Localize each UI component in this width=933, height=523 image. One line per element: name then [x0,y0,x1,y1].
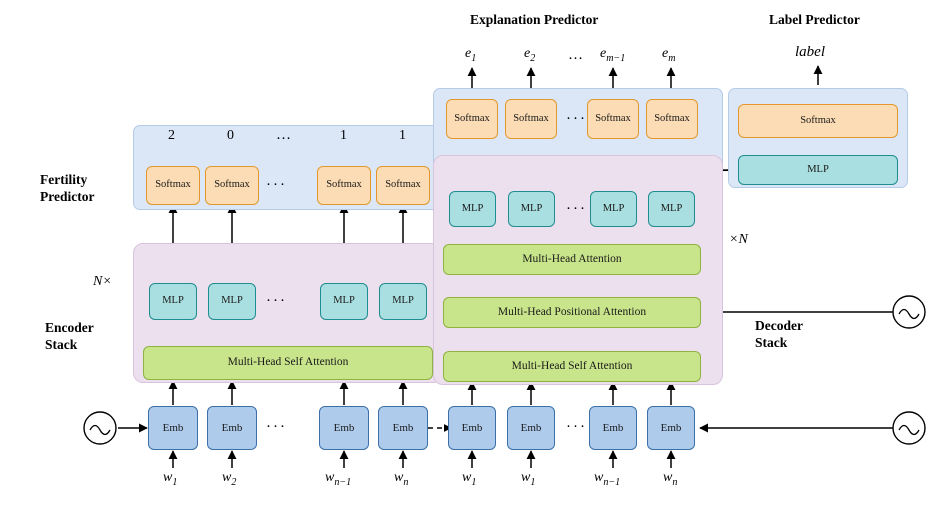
encoder-repeat-label: N× [93,274,112,290]
encoder-input-3: wn [394,470,408,488]
decoder-stack-title-line1: Decoder [755,318,803,333]
encoder-stack-title-line1: Encoder [45,320,94,335]
decoder-input-2: wn−1 [594,470,620,488]
encoder-input-0: w1 [163,470,177,488]
fertility-output-3: 1 [399,128,406,144]
explanation-softmax-3[interactable]: Softmax [646,99,698,139]
explanation-softmax-1[interactable]: Softmax [505,99,557,139]
fertility-predictor-title-line2: Predictor [40,189,94,204]
explanation-predictor-title: Explanation Predictor [470,12,598,28]
decoder-input-3: wn [663,470,677,488]
arrows-decoder-emb-to-selfattn [472,382,671,405]
decoder-emb-0[interactable]: Emb [448,406,496,450]
label-predictor-softmax[interactable]: Softmax [738,104,898,138]
explanation-output-3: em [662,46,676,64]
explanation-output-ellipsis: … [568,47,585,64]
encoder-emb-1[interactable]: Emb [207,406,257,450]
encoder-mlp-0[interactable]: MLP [149,283,197,320]
arrows-encoder-word-to-emb [173,451,403,468]
encoder-stack-title: Encoder Stack [45,320,94,354]
encoder-emb-ellipsis: ··· [266,419,287,436]
fertility-softmax-0[interactable]: Softmax [146,166,200,205]
arrows-decoder-word-to-emb [472,451,671,468]
encoder-mlp-ellipsis: ··· [266,293,287,310]
decoder-input-0: w1 [462,470,476,488]
encoder-emb-3[interactable]: Emb [378,406,428,450]
fertility-output-0: 2 [168,128,175,144]
fertility-output-2: 1 [340,128,347,144]
label-predictor-title: Label Predictor [769,12,860,28]
label-predictor-mlp[interactable]: MLP [738,155,898,185]
explanation-softmax-ellipsis: ··· [566,111,587,128]
decoder-mlp-1[interactable]: MLP [508,191,555,227]
fertility-softmax-1[interactable]: Softmax [205,166,259,205]
explanation-output-1: e2 [524,46,535,64]
encoder-emb-2[interactable]: Emb [319,406,369,450]
fertility-output-ellipsis: … [276,127,293,144]
arrows-encoder-emb-to-attn [173,381,403,405]
decoder-emb-2[interactable]: Emb [589,406,637,450]
encoder-stack-title-line2: Stack [45,337,77,352]
fertility-softmax-3[interactable]: Softmax [376,166,430,205]
explanation-output-2: em−1 [600,46,625,64]
fertility-predictor-title: Fertility Predictor [40,172,94,206]
explanation-softmax-0[interactable]: Softmax [446,99,498,139]
fertility-output-1: 0 [227,128,234,144]
decoder-emb-3[interactable]: Emb [647,406,695,450]
decoder-stack-title: Decoder Stack [755,318,803,352]
decoder-emb-1[interactable]: Emb [507,406,555,450]
encoder-mlp-3[interactable]: MLP [379,283,427,320]
encoder-mlp-1[interactable]: MLP [208,283,256,320]
encoder-input-1: w2 [222,470,236,488]
decoder-self-attention-bar[interactable]: Multi-Head Self Attention [443,351,701,382]
decoder-mlp-2[interactable]: MLP [590,191,637,227]
explanation-output-0: e1 [465,46,476,64]
decoder-cross-attention-bar[interactable]: Multi-Head Attention [443,244,701,275]
decoder-repeat-label: ×N [729,232,748,248]
fertility-softmax-2[interactable]: Softmax [317,166,371,205]
encoder-self-attention-bar[interactable]: Multi-Head Self Attention [143,346,433,380]
decoder-stack-title-line2: Stack [755,335,787,350]
fertility-predictor-title-line1: Fertility [40,172,87,187]
encoder-mlp-2[interactable]: MLP [320,283,368,320]
decoder-mlp-3[interactable]: MLP [648,191,695,227]
fertility-softmax-ellipsis: ··· [266,177,287,194]
label-predictor-output: label [795,44,825,61]
explanation-softmax-2[interactable]: Softmax [587,99,639,139]
decoder-mlp-0[interactable]: MLP [449,191,496,227]
decoder-input-1: w1 [521,470,535,488]
decoder-positional-attention-bar[interactable]: Multi-Head Positional Attention [443,297,701,328]
encoder-input-2: wn−1 [325,470,351,488]
encoder-emb-0[interactable]: Emb [148,406,198,450]
decoder-mlp-ellipsis: ··· [566,201,587,218]
decoder-emb-ellipsis: ··· [566,419,587,436]
figure-canvas: Explanation Predictor Label Predictor Fe… [0,0,933,523]
